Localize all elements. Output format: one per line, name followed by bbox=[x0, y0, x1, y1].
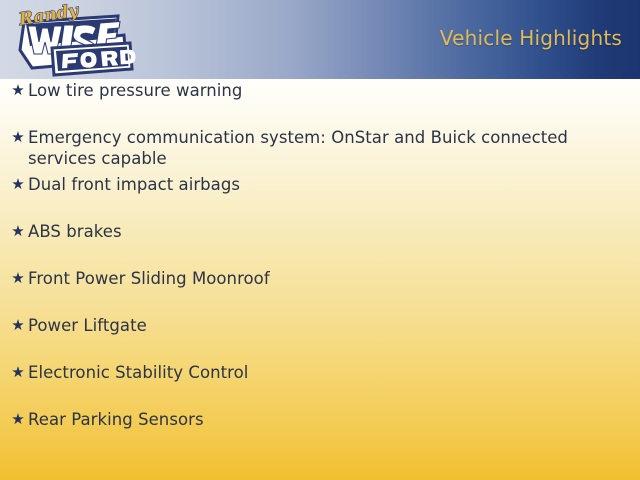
highlight-label: Low tire pressure warning bbox=[28, 79, 588, 101]
highlight-label: ABS brakes bbox=[28, 220, 588, 242]
vehicle-highlights-page: Randy Vehicle Highlights ★Low tire press… bbox=[0, 0, 640, 480]
list-item: ★Emergency communication system: OnStar … bbox=[0, 126, 640, 173]
highlight-label: Electronic Stability Control bbox=[28, 361, 588, 383]
highlight-label: Dual front impact airbags bbox=[28, 173, 588, 195]
highlight-label: Power Liftgate bbox=[28, 314, 588, 336]
highlight-label: Emergency communication system: OnStar a… bbox=[28, 126, 588, 169]
list-item: ★Electronic Stability Control bbox=[0, 361, 640, 408]
randy-wise-ford-logo: Randy bbox=[6, 2, 138, 78]
highlights-panel: ★Low tire pressure warning★Emergency com… bbox=[0, 79, 640, 480]
star-bullet-icon: ★ bbox=[8, 409, 28, 431]
list-item: ★Power Liftgate bbox=[0, 314, 640, 361]
page-title: Vehicle Highlights bbox=[440, 26, 622, 50]
star-bullet-icon: ★ bbox=[8, 127, 28, 149]
highlight-label: Rear Parking Sensors bbox=[28, 408, 588, 430]
star-bullet-icon: ★ bbox=[8, 362, 28, 384]
list-item: ★Front Power Sliding Moonroof bbox=[0, 267, 640, 314]
star-bullet-icon: ★ bbox=[8, 268, 28, 290]
list-item: ★Rear Parking Sensors bbox=[0, 408, 640, 455]
star-bullet-icon: ★ bbox=[8, 80, 28, 102]
list-item: ★Low tire pressure warning bbox=[0, 79, 640, 126]
star-bullet-icon: ★ bbox=[8, 315, 28, 337]
vehicle-highlights-list: ★Low tire pressure warning★Emergency com… bbox=[0, 79, 640, 455]
highlight-label: Front Power Sliding Moonroof bbox=[28, 267, 588, 289]
star-bullet-icon: ★ bbox=[8, 221, 28, 243]
page-header: Randy Vehicle Highlights bbox=[0, 0, 640, 79]
star-bullet-icon: ★ bbox=[8, 174, 28, 196]
list-item: ★ABS brakes bbox=[0, 220, 640, 267]
list-item: ★Dual front impact airbags bbox=[0, 173, 640, 220]
